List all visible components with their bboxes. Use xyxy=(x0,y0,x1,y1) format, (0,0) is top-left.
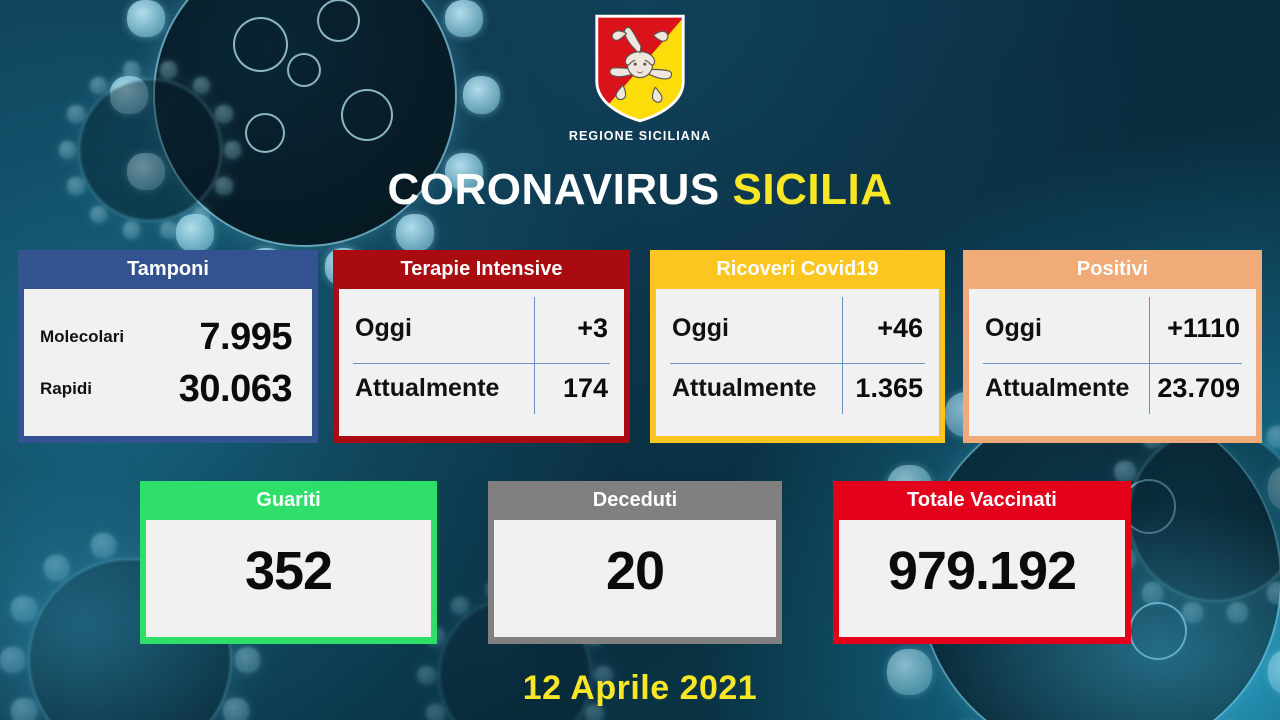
card-title-guariti: Guariti xyxy=(146,481,431,520)
logo-caption: REGIONE SICILIANA xyxy=(569,129,711,143)
card-title-positivi: Positivi xyxy=(969,250,1256,289)
card-title-totale-vaccinati: Totale Vaccinati xyxy=(839,481,1125,520)
card-title-tamponi: Tamponi xyxy=(24,250,312,289)
stat-label: Attualmente xyxy=(985,376,1129,401)
card-body-totale-vaccinati: 979.192 xyxy=(839,520,1125,637)
title-coronavirus: CORONAVIRUS xyxy=(388,165,720,214)
stat-card-deceduti: Deceduti 20 xyxy=(488,481,782,644)
stat-value: +3 xyxy=(577,315,608,342)
stat-value: 979.192 xyxy=(839,520,1125,637)
stat-row: Oggi +3 xyxy=(349,299,614,359)
card-title-terapie-intensive: Terapie Intensive xyxy=(339,250,624,289)
stat-value: 20 xyxy=(494,520,776,637)
stat-row: Rapidi 30.063 xyxy=(40,363,298,415)
stat-card-terapie-intensive: Terapie Intensive Oggi +3 Attualmente 17… xyxy=(333,250,630,443)
stat-value: 174 xyxy=(563,375,608,402)
stat-value: +1110 xyxy=(1167,315,1240,342)
divider-vertical xyxy=(1149,297,1150,414)
stat-row: Oggi +46 xyxy=(666,299,929,359)
stat-value: 1.365 xyxy=(855,375,923,402)
card-body-guariti: 352 xyxy=(146,520,431,637)
card-body-tamponi: Molecolari 7.995 Rapidi 30.063 xyxy=(24,289,312,436)
card-title-ricoveri-covid19: Ricoveri Covid19 xyxy=(656,250,939,289)
stat-card-tamponi: Tamponi Molecolari 7.995 Rapidi 30.063 xyxy=(18,250,318,443)
stat-row: Attualmente 23.709 xyxy=(979,359,1246,419)
report-date: 12 Aprile 2021 xyxy=(0,669,1280,708)
card-body-terapie-intensive: Oggi +3 Attualmente 174 xyxy=(339,289,624,436)
stat-row: Oggi +1110 xyxy=(979,299,1246,359)
stat-label: Attualmente xyxy=(672,376,816,401)
card-title-deceduti: Deceduti xyxy=(494,481,776,520)
stat-row: Attualmente 174 xyxy=(349,359,614,419)
divider-vertical xyxy=(842,297,843,414)
stat-label: Rapidi xyxy=(40,379,148,399)
card-body-positivi: Oggi +1110 Attualmente 23.709 xyxy=(969,289,1256,436)
title-sicilia: SICILIA xyxy=(733,165,893,214)
page-title: CORONAVIRUS SICILIA xyxy=(0,168,1280,212)
stat-label: Molecolari xyxy=(40,327,148,347)
regione-siciliana-logo: REGIONE SICILIANA xyxy=(0,12,1280,143)
divider-vertical xyxy=(534,297,535,414)
stat-value: +46 xyxy=(877,315,923,342)
stat-value: 7.995 xyxy=(148,318,298,356)
stat-label: Attualmente xyxy=(355,376,499,401)
stat-label: Oggi xyxy=(355,316,412,341)
stat-value: 30.063 xyxy=(148,370,298,408)
divider-horizontal xyxy=(670,363,925,364)
card-body-ricoveri-covid19: Oggi +46 Attualmente 1.365 xyxy=(656,289,939,436)
stat-value: 23.709 xyxy=(1157,375,1240,402)
divider-horizontal xyxy=(353,363,610,364)
stat-card-positivi: Positivi Oggi +1110 Attualmente 23.709 xyxy=(963,250,1262,443)
stat-card-ricoveri-covid19: Ricoveri Covid19 Oggi +46 Attualmente 1.… xyxy=(650,250,945,443)
divider-horizontal xyxy=(983,363,1242,364)
stat-label: Oggi xyxy=(985,316,1042,341)
card-body-deceduti: 20 xyxy=(494,520,776,637)
stat-card-totale-vaccinati: Totale Vaccinati 979.192 xyxy=(833,481,1131,644)
stat-card-guariti: Guariti 352 xyxy=(140,481,437,644)
trinacria-crest-icon xyxy=(592,12,688,124)
stat-value: 352 xyxy=(146,520,431,637)
stat-label: Oggi xyxy=(672,316,729,341)
covid-dashboard-infographic: REGIONE SICILIANA CORONAVIRUS SICILIA Ta… xyxy=(0,0,1280,720)
stat-row: Attualmente 1.365 xyxy=(666,359,929,419)
stat-row: Molecolari 7.995 xyxy=(40,311,298,363)
